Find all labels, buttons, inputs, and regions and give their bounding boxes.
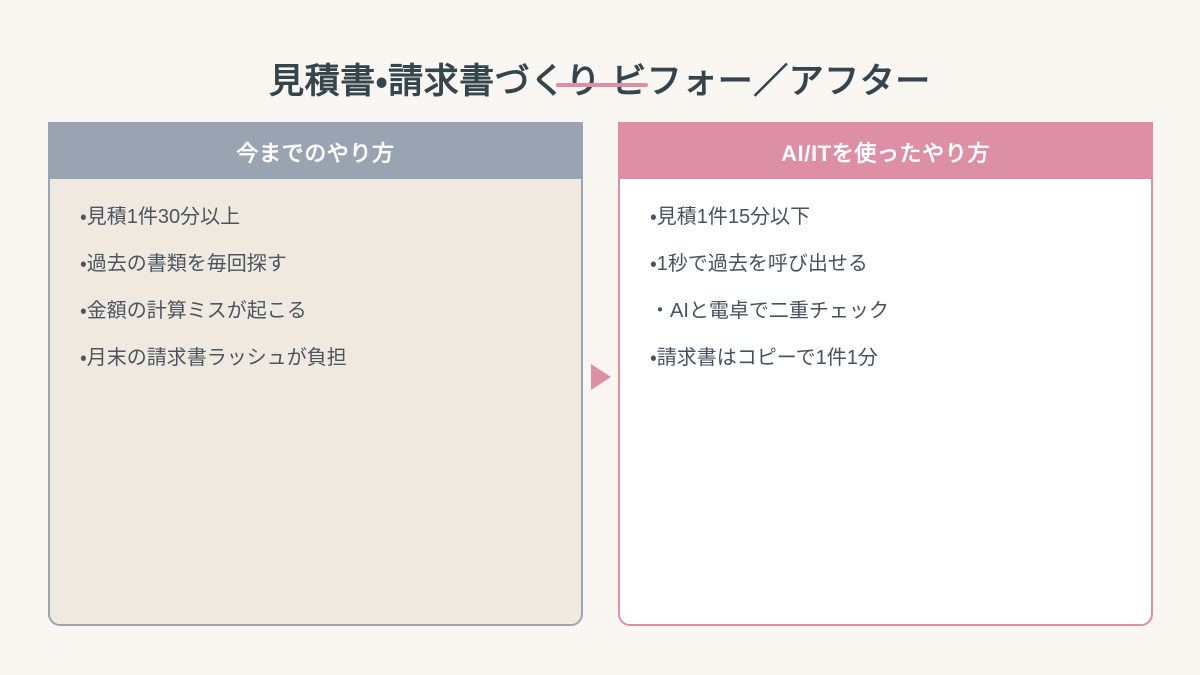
after-card-body: ・見積1件15分以下 ・1秒で過去を呼び出せる ・AIと電卓で二重チェック ・請… [620, 179, 1151, 624]
before-card-header: 今までのやり方 [50, 124, 581, 179]
after-card-header: AI/ITを使ったやり方 [620, 124, 1151, 179]
triangle-right-icon [591, 364, 611, 390]
after-card-header-label: AI/ITを使ったやり方 [781, 136, 990, 168]
before-card-header-label: 今までのやり方 [236, 136, 394, 168]
before-bullet-list: ・見積1件30分以上 ・過去の書類を毎回探す ・金額の計算ミスが起こる ・月末の… [80, 205, 551, 371]
list-item: ・請求書はコピーで1件1分 [650, 346, 1121, 371]
list-item: ・金額の計算ミスが起こる [80, 299, 551, 324]
list-item: ・見積1件30分以上 [80, 205, 551, 230]
before-card-body: ・見積1件30分以上 ・過去の書類を毎回探す ・金額の計算ミスが起こる ・月末の… [50, 179, 581, 624]
list-item: ・AIと電卓で二重チェック [650, 299, 1121, 324]
title-underline-accent [556, 83, 648, 87]
list-item: ・見積1件15分以下 [650, 205, 1121, 230]
before-card: 今までのやり方 ・見積1件30分以上 ・過去の書類を毎回探す ・金額の計算ミスが… [48, 122, 583, 626]
after-bullet-list: ・見積1件15分以下 ・1秒で過去を呼び出せる ・AIと電卓で二重チェック ・請… [650, 205, 1121, 371]
list-item: ・1秒で過去を呼び出せる [650, 252, 1121, 277]
list-item: ・過去の書類を毎回探す [80, 252, 551, 277]
after-card: AI/ITを使ったやり方 ・見積1件15分以下 ・1秒で過去を呼び出せる ・AI… [618, 122, 1153, 626]
list-item: ・月末の請求書ラッシュが負担 [80, 346, 551, 371]
